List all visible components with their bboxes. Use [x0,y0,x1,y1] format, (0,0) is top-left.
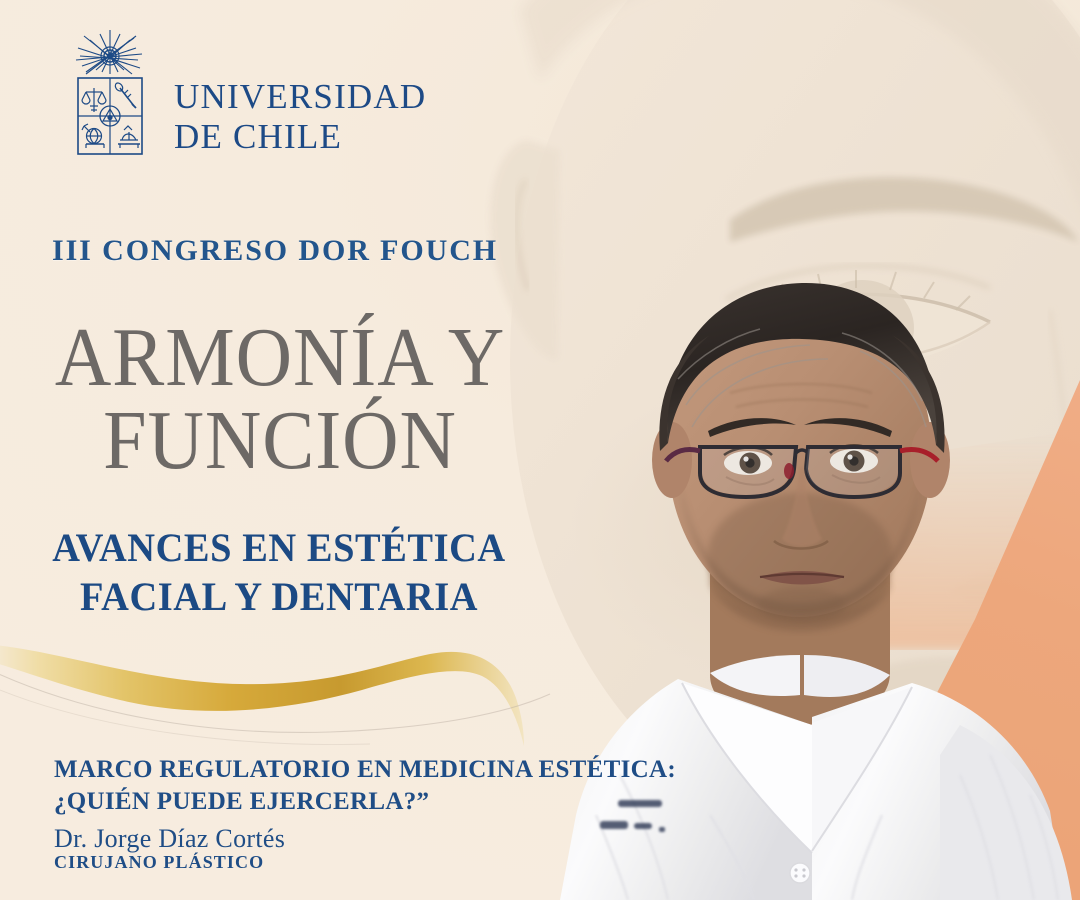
congress-kicker: III CONGRESO DOR FOUCH [52,234,498,268]
universidad-de-chile-crest-icon [62,26,158,166]
universidad-de-chile-logo: UNIVERSIDAD DE CHILE [62,26,426,166]
logo-line-1: UNIVERSIDAD [174,77,426,117]
poster-headline: ARMONÍA Y FUNCIÓN [20,316,541,482]
speaker-role: CIRUJANO PLÁSTICO [54,852,264,873]
talk-title: MARCO REGULATORIO EN MEDICINA ESTÉTICA: … [54,754,676,818]
congress-poster: UNIVERSIDAD DE CHILE III CONGRESO DOR FO… [0,0,1080,900]
subhead-line-2: FACIAL Y DENTARIA [11,573,547,622]
talk-title-line-1: MARCO REGULATORIO EN MEDICINA ESTÉTICA: [54,754,676,786]
talk-title-line-2: ¿QUIÉN PUEDE EJERCERLA?” [54,786,676,818]
logo-wordmark: UNIVERSIDAD DE CHILE [174,35,426,156]
headline-line-1: ARMONÍA Y [20,316,541,399]
speaker-name: Dr. Jorge Díaz Cortés [54,824,285,854]
headline-line-2: FUNCIÓN [20,399,541,482]
logo-line-2: DE CHILE [174,117,426,157]
subhead-line-1: AVANCES EN ESTÉTICA [11,524,547,573]
poster-subhead: AVANCES EN ESTÉTICA FACIAL Y DENTARIA [11,524,547,622]
